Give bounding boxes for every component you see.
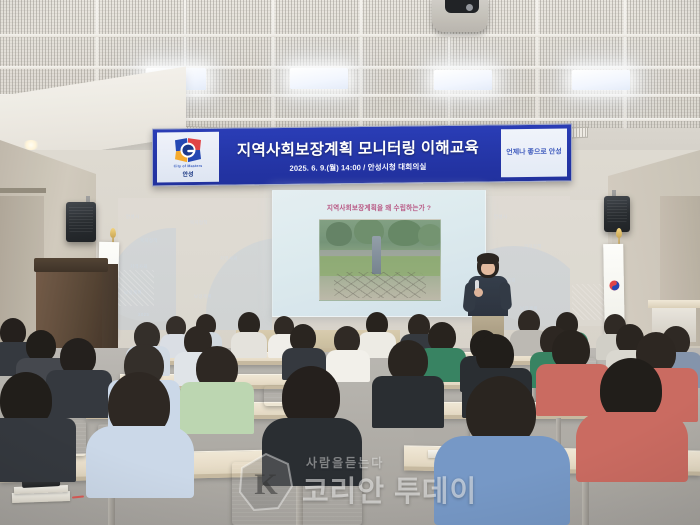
vignette — [0, 0, 700, 525]
photo-scene: 안성시 복지정책 지역사회 보장계획 2025 복지정책 지역사회 보장계획 안… — [0, 0, 700, 525]
